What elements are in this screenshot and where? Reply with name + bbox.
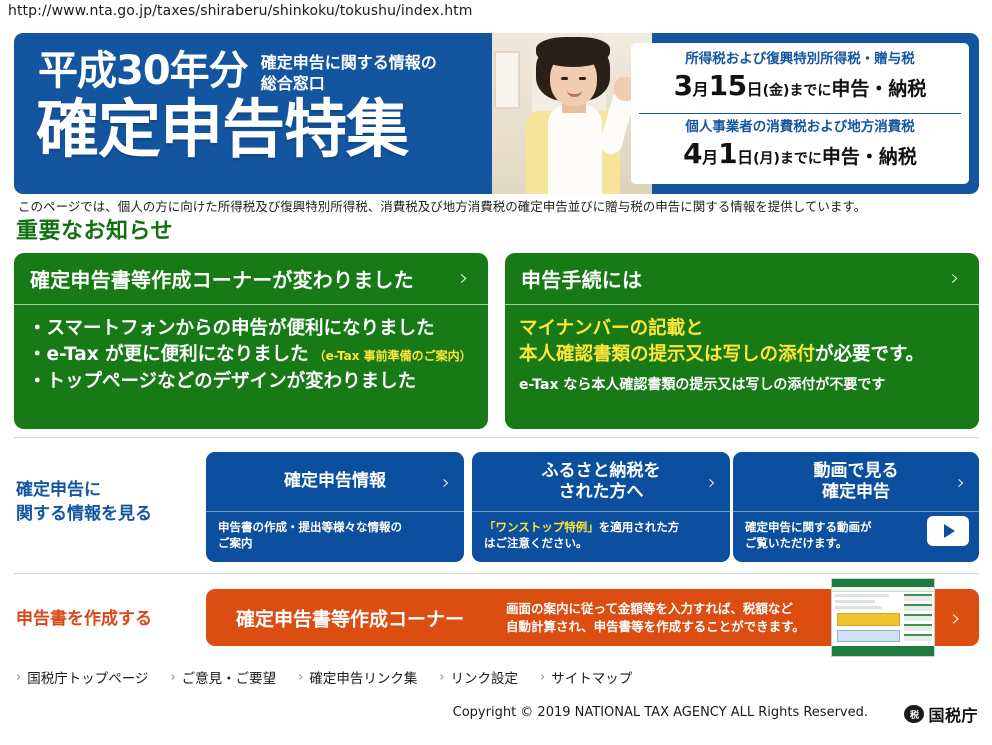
notice-panel-header[interactable]: 申告手続には › (505, 253, 979, 305)
notice-bullet-text: ・e-Tax が更に便利になりました (28, 344, 309, 365)
hero-photo-woman (492, 33, 652, 194)
create-button-description: 画面の案内に従って金額等を入力すれば、税額など 自動計算され、申告書等を作成する… (506, 600, 805, 636)
card-desc-line2: ご案内 (218, 535, 454, 551)
notice-bullet-text: ・トップページなどのデザインが変わりました (28, 371, 416, 392)
footer-link-link-policy[interactable]: ›リンク設定 (439, 667, 518, 687)
play-video-icon[interactable] (927, 516, 969, 546)
notice-panel-body: ・スマートフォンからの申告が便利になりました ・e-Tax が更に便利になりまし… (14, 305, 488, 395)
footer-link-nta-top[interactable]: ›国税庁トップページ (16, 667, 148, 687)
card-title-line2: 確定申告 (822, 482, 890, 502)
card-desc-line1: 「ワンストップ特例」を適用された方 (484, 519, 720, 535)
chevron-right-icon: › (951, 604, 961, 632)
card-description: 「ワンストップ特例」を適用された方 はご注意ください。 (472, 512, 730, 551)
footer-link-sitemap[interactable]: ›サイトマップ (540, 667, 632, 687)
copyright-text: Copyright © 2019 NATIONAL TAX AGENCY ALL… (453, 705, 868, 720)
hero-banner: 平成30年分 確定申告に関する情報の 総合窓口 確定申告特集 (14, 33, 979, 194)
chevron-right-icon: › (957, 470, 965, 494)
deadline-month-number: 3 (674, 69, 693, 102)
site-thumbnail-preview (831, 578, 935, 657)
deadline-heading: 所得税および復興特別所得税・贈与税 (639, 51, 961, 68)
card-header[interactable]: 確定申告情報 › (206, 452, 464, 512)
notice-bullet: ・スマートフォンからの申告が便利になりました (28, 316, 474, 342)
deadline-month-unit: 月 (693, 80, 709, 99)
card-title-line2: された方へ (559, 482, 644, 502)
deadline-date: 4月1日(月)までに申告・納税 (639, 137, 961, 170)
deadline-date: 3月15日(金)までに申告・納税 (639, 69, 961, 102)
nta-logo: 税 国税庁 (904, 702, 978, 726)
chevron-right-icon: › (456, 268, 472, 290)
deadline-day-unit: 日 (737, 148, 753, 167)
card-desc-rest: を適用された方 (599, 520, 680, 534)
section-heading-important-notice: 重要なお知らせ (16, 213, 173, 245)
footer-link-feedback[interactable]: ›ご意見・ご要望 (170, 667, 276, 687)
card-title: 動画で見る 確定申告 (814, 461, 899, 503)
info-label-line1: 確定申告に (16, 480, 101, 500)
card-desc-line2: はご注意ください。 (484, 535, 720, 551)
card-kakutei-shinkoku-joho[interactable]: 確定申告情報 › 申告書の作成・提出等様々な情報の ご案内 (206, 452, 464, 562)
notice-panel-title: 申告手続には (521, 264, 947, 293)
chevron-right-icon: › (947, 268, 963, 290)
chevron-right-icon: › (540, 670, 545, 685)
deadline-tail: までに (789, 83, 831, 99)
divider-top (14, 437, 979, 438)
footer-link-label: 国税庁トップページ (27, 667, 148, 687)
chevron-right-icon: › (170, 670, 175, 685)
hero-subtitle-line1: 確定申告に関する情報の (261, 53, 437, 72)
card-header[interactable]: ふるさと納税を された方へ › (472, 452, 730, 512)
chevron-right-icon: › (16, 670, 21, 685)
card-title-line1: 動画で見る (814, 461, 899, 481)
deadline-weekday: (月) (753, 151, 780, 167)
create-desc-line2: 自動計算され、申告書等を作成することができます。 (506, 619, 805, 634)
deadline-row-consumption-tax: 個人事業者の消費税および地方消費税 4月1日(月)までに申告・納税 (639, 113, 961, 179)
notice-bullet: ・e-Tax が更に便利になりました（e-Tax 事前準備のご案内） (28, 342, 474, 369)
card-header[interactable]: 動画で見る 確定申告 › (733, 452, 979, 512)
card-title-line1: ふるさと納税を (542, 461, 661, 481)
page-root: http://www.nta.go.jp/taxes/shiraberu/shi… (0, 0, 992, 745)
deadline-day-number: 15 (709, 69, 747, 102)
card-description: 申告書の作成・提出等様々な情報の ご案内 (206, 512, 464, 551)
footer-link-label: ご意見・ご要望 (182, 667, 277, 687)
deadline-day-unit: 日 (747, 80, 763, 99)
create-button-title: 確定申告書等作成コーナー (236, 604, 464, 631)
notice-panel-title: 確定申告書等作成コーナーが変わりました (30, 264, 456, 293)
notice-panel-header[interactable]: 確定申告書等作成コーナーが変わりました › (14, 253, 488, 305)
notice-highlight-white: が必要です。 (815, 344, 924, 365)
card-desc-line1: 申告書の作成・提出等様々な情報の (218, 519, 454, 535)
notice-highlight-line2: 本人確認書類の提示又は写しの添付が必要です。 (519, 342, 965, 368)
deadline-tail: までに (780, 151, 822, 167)
info-section-label: 確定申告に 関する情報を見る (16, 478, 152, 526)
nta-logo-mark-icon: 税 (904, 705, 924, 723)
deadline-action: 申告・納税 (822, 146, 917, 168)
chevron-right-icon: › (439, 670, 444, 685)
footer-link-shinkoku-links[interactable]: ›確定申告リンク集 (298, 667, 417, 687)
deadline-weekday: (金) (763, 83, 790, 99)
card-desc-highlight: 「ワンストップ特例」 (484, 520, 599, 534)
deadline-action: 申告・納税 (831, 78, 926, 100)
deadline-month-number: 4 (683, 137, 702, 170)
chevron-right-icon: › (708, 470, 716, 494)
hero-subtitle-line2: 総合窓口 (261, 74, 325, 93)
card-description: 確定申告に関する動画が ご覧いただけます。 (733, 512, 979, 551)
card-douga-de-miru[interactable]: 動画で見る 確定申告 › 確定申告に関する動画が ご覧いただけます。 (733, 452, 979, 562)
create-desc-line1: 画面の案内に従って金額等を入力すれば、税額など (506, 601, 793, 616)
deadline-row-income-tax: 所得税および復興特別所得税・贈与税 3月15日(金)までに申告・納税 (639, 47, 961, 113)
footer-link-label: 確定申告リンク集 (309, 667, 417, 687)
deadline-info-box: 所得税および復興特別所得税・贈与税 3月15日(金)までに申告・納税 個人事業者… (631, 43, 969, 184)
chevron-right-icon: › (442, 470, 450, 494)
deadline-day-number: 1 (718, 137, 737, 170)
hero-subtitle: 確定申告に関する情報の 総合窓口 (261, 52, 476, 94)
nta-logo-text: 国税庁 (928, 702, 978, 726)
footer-link-label: リンク設定 (451, 667, 519, 687)
deadline-heading: 個人事業者の消費税および地方消費税 (639, 119, 961, 136)
card-furusato-nozei[interactable]: ふるさと納税を された方へ › 「ワンストップ特例」を適用された方 はご注意くだ… (472, 452, 730, 562)
notice-bullet-note[interactable]: （e-Tax 事前準備のご案内） (314, 349, 472, 363)
notice-highlight-line1: マイナンバーの記載と (519, 316, 965, 342)
hero-title-group: 平成30年分 確定申告に関する情報の 総合窓口 (38, 49, 488, 94)
divider-bottom (14, 573, 979, 574)
card-title: 確定申告情報 (284, 471, 386, 492)
notice-panel-shinkoku-tetsuzuki[interactable]: 申告手続には › マイナンバーの記載と 本人確認書類の提示又は写しの添付が必要で… (505, 253, 979, 429)
chevron-right-icon: › (298, 670, 303, 685)
notice-bullet-text: ・スマートフォンからの申告が便利になりました (28, 318, 434, 339)
notice-panel-sakusei-corner[interactable]: 確定申告書等作成コーナーが変わりました › ・スマートフォンからの申告が便利にな… (14, 253, 488, 429)
notice-bullet: ・トップページなどのデザインが変わりました (28, 369, 474, 395)
notice-highlight-yellow: 本人確認書類の提示又は写しの添付 (519, 344, 815, 365)
create-section-label: 申告書を作成する (16, 607, 152, 631)
hero-year-label: 平成30年分 (38, 49, 248, 93)
address-bar-url[interactable]: http://www.nta.go.jp/taxes/shiraberu/shi… (8, 3, 473, 19)
notice-panel-body: マイナンバーの記載と 本人確認書類の提示又は写しの添付が必要です。 e-Tax … (505, 305, 979, 396)
card-title: ふるさと納税を された方へ (542, 461, 661, 503)
footer-link-list: ›国税庁トップページ ›ご意見・ご要望 ›確定申告リンク集 ›リンク設定 ›サイ… (16, 667, 632, 687)
notice-sub-text: e-Tax なら本人確認書類の提示又は写しの添付が不要です (519, 374, 965, 396)
deadline-month-unit: 月 (702, 148, 718, 167)
hero-main-title: 確定申告特集 (36, 95, 408, 165)
info-label-line2: 関する情報を見る (16, 504, 152, 524)
button-sakusei-corner[interactable]: 確定申告書等作成コーナー 画面の案内に従って金額等を入力すれば、税額など 自動計… (206, 589, 979, 646)
footer-link-label: サイトマップ (551, 667, 632, 687)
